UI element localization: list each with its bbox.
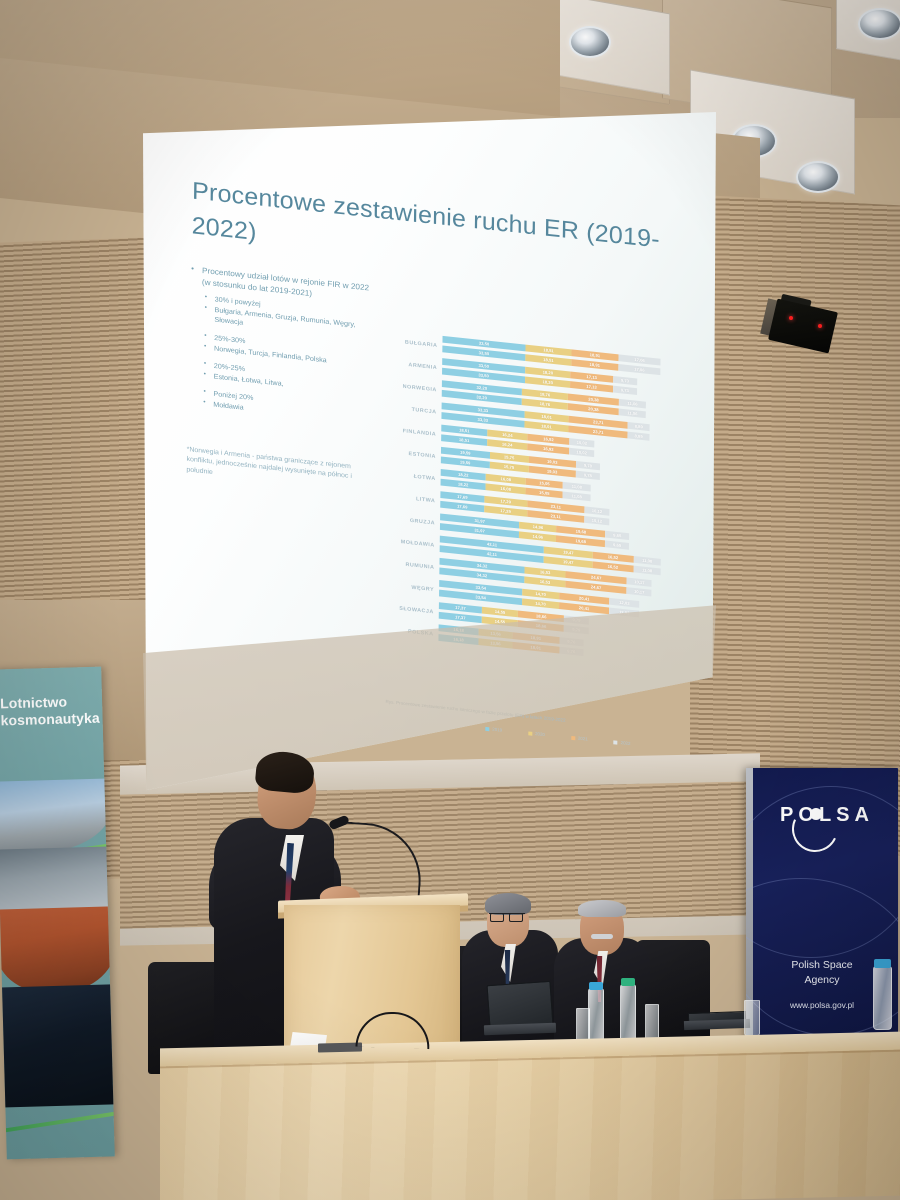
chart-value-label: 18,91 <box>590 352 601 358</box>
chart-value-label: 18,01 <box>541 414 552 420</box>
chart-value-label: 16,52 <box>608 564 619 570</box>
chart-value-label: 15,05 <box>539 490 550 496</box>
legend-swatch <box>614 740 618 744</box>
drinking-glass <box>576 1008 590 1042</box>
chart-value-label: 33,50 <box>479 340 490 346</box>
legend-swatch <box>528 731 532 735</box>
projection-screen: Procentowe zestawienie ruchu ER (2019-20… <box>143 112 716 797</box>
chart-value-label: 19,47 <box>563 559 574 565</box>
chart-value-label: 10,02 <box>576 449 587 455</box>
chart-value-label: 15,05 <box>539 480 550 486</box>
chart-segment-2022: 17,06 <box>618 364 660 376</box>
chart-value-label: 14,55 <box>495 619 506 625</box>
chart-value-label: 9,79 <box>572 627 580 633</box>
chart-value-label: 17,29 <box>500 508 511 514</box>
chart-segment-2020: 16,24 <box>487 439 527 451</box>
panelist-hair <box>578 900 626 917</box>
chart-value-label: 12,03 <box>619 600 630 606</box>
chart-category-label: SŁOWACJA <box>387 604 439 615</box>
slide-bullet-list: Procentowy udział lotów w rejonie FIR w … <box>187 264 379 428</box>
chart-value-label: 16,24 <box>502 441 513 447</box>
chart-segment-2022: 10,12 <box>584 506 609 516</box>
chart-value-label: 15,75 <box>504 454 515 460</box>
chart-category-label: GRUZJA <box>388 515 440 526</box>
chart-value-label: 33,33 <box>478 417 489 423</box>
chart-segment-2022: 10,17 <box>627 587 652 597</box>
chart-segment-2020: 16,08 <box>486 483 526 495</box>
banner-photo-airport <box>0 778 112 853</box>
chart-value-label: 32,20 <box>477 385 488 391</box>
chart-value-label: 17,29 <box>500 498 511 504</box>
chart-value-label: 10,02 <box>577 440 588 446</box>
legend-label: 2021 <box>578 736 588 742</box>
legend-label: 2022 <box>621 740 631 746</box>
chart-value-label: 14,55 <box>495 609 506 615</box>
chart-value-label: 19,59 <box>460 459 471 465</box>
banner-photo-cockpit <box>0 984 115 1107</box>
chart-segment-2022: 10,17 <box>627 577 652 587</box>
chart-segment-2020: 17,29 <box>484 505 527 517</box>
chart-value-label: 9,73 <box>621 378 629 384</box>
camera-led-indicator <box>789 316 793 320</box>
chart-value-label: 11,06 <box>627 401 637 407</box>
chart-value-label: 20,41 <box>579 595 590 601</box>
chart-value-label: 9,78 <box>584 472 592 478</box>
water-bottle <box>588 988 604 1044</box>
chart-value-label: 18,51 <box>459 437 470 443</box>
chart-value-label: 16,92 <box>543 436 554 442</box>
chart-segment-2022: 11,08 <box>563 491 591 501</box>
ceiling-downlight-icon <box>858 8 900 40</box>
chart-value-label: 17,13 <box>586 374 597 380</box>
chart-value-label: 23,71 <box>593 419 604 425</box>
chart-value-label: 18,91 <box>531 635 542 641</box>
chart-segment-2022: 10,02 <box>569 447 594 457</box>
chart-segment-2021: 16,92 <box>527 443 569 455</box>
chart-value-label: 23,11 <box>551 504 561 510</box>
bottle-cap <box>621 978 635 986</box>
chart-value-label: 9,73 <box>621 387 629 393</box>
chart-value-label: 16,08 <box>500 486 511 492</box>
chart-value-label: 19,47 <box>563 549 574 555</box>
conference-photo: Procentowe zestawienie ruchu ER (2019-20… <box>0 0 900 1200</box>
chart-value-label: 17,69 <box>457 494 468 500</box>
chart-value-label: 10,17 <box>634 589 645 595</box>
stacked-bar-chart: BUŁGARIA33,5018,5118,9117,0633,5018,5118… <box>386 329 691 722</box>
chart-value-label: 18,51 <box>459 427 470 433</box>
chart-category-label: ŁOTWA <box>389 471 441 482</box>
chart-value-label: 18,91 <box>590 362 601 368</box>
chart-value-label: 14,96 <box>533 524 544 530</box>
chart-value-label: 11,08 <box>572 484 582 490</box>
chart-value-label: 24,67 <box>591 584 602 590</box>
chart-value-label: 23,71 <box>593 429 604 435</box>
chart-value-label: 18,22 <box>458 481 469 487</box>
chart-segment-2022: 9,76 <box>559 646 583 656</box>
chart-legend-item: 2019 <box>485 726 502 733</box>
chart-segment-2022: 12,03 <box>609 607 639 617</box>
chart-segment-2022: 11,08 <box>633 565 661 575</box>
chart-legend: 2019202020212022 <box>485 726 630 746</box>
legend-label: 2020 <box>535 731 545 737</box>
chart-segment-2022: 11,06 <box>619 408 647 418</box>
chart-legend-item: 2020 <box>528 730 545 737</box>
chart-value-label: 19,59 <box>460 450 471 456</box>
chart-value-label: 11,08 <box>572 493 582 499</box>
chart-value-label: 13,56 <box>490 631 501 637</box>
chart-value-label: 16,53 <box>540 579 551 585</box>
chart-value-label: 10,17 <box>634 579 645 585</box>
chart-segment-2020: 16,53 <box>524 576 565 588</box>
chart-value-label: 11,08 <box>642 558 652 564</box>
chart-category-label: TURCJA <box>389 404 441 415</box>
chart-value-label: 34,32 <box>477 563 488 569</box>
chart-value-label: 9,78 <box>584 463 592 469</box>
chart-segment-2019: 16,18 <box>438 634 478 646</box>
chart-value-label: 16,53 <box>540 569 551 575</box>
camera-led-indicator <box>818 324 822 328</box>
chart-segment-2021: 17,13 <box>570 381 613 393</box>
chart-segment-2022: 9,73 <box>613 385 637 395</box>
chart-value-label: 17,13 <box>586 384 597 390</box>
chart-legend-item: 2021 <box>571 735 588 742</box>
chart-segment-2020: 13,56 <box>479 638 513 649</box>
chart-legend-item: 2022 <box>614 739 631 746</box>
chart-value-label: 18,01 <box>541 423 552 429</box>
chart-value-label: 17,37 <box>455 605 466 611</box>
chart-segment-2020: 15,75 <box>489 461 528 472</box>
chart-value-label: 17,69 <box>457 503 468 509</box>
drinking-glass <box>744 1000 760 1036</box>
chart-value-label: 20,41 <box>579 605 590 611</box>
chart-segment-2020: 14,55 <box>482 616 518 627</box>
legend-swatch <box>571 735 575 739</box>
chart-value-label: 16,24 <box>502 432 513 438</box>
chart-value-label: 23,11 <box>551 513 561 519</box>
chart-caption: Rys. Procentowe zestawienie ruchu lotnic… <box>386 699 566 723</box>
chart-value-label: 16,08 <box>501 476 512 482</box>
chart-value-label: 15,75 <box>504 464 515 470</box>
chart-value-label: 33,50 <box>479 350 490 356</box>
chart-category-label: ESTONIA <box>389 449 441 460</box>
slide-footnote: *Norwegia i Armenia - państwa graniczące… <box>186 445 364 494</box>
water-bottle <box>620 984 636 1044</box>
chart-value-label: 18,76 <box>540 391 551 397</box>
chart-segment-2022: 9,65 <box>605 540 629 550</box>
panel-desk-front <box>160 1050 900 1200</box>
chart-value-label: 18,51 <box>543 357 554 363</box>
chart-value-label: 8,89 <box>635 424 643 430</box>
chart-segment-2022: 8,89 <box>628 422 650 432</box>
chart-category-label: BUŁGARIA <box>390 338 442 349</box>
laptop-screen <box>487 981 554 1029</box>
chart-value-label: 17,06 <box>634 357 645 363</box>
chart-value-label: 33,33 <box>478 407 489 413</box>
chart-value-label: 34,32 <box>477 572 488 578</box>
chart-segment-2022: 10,12 <box>584 516 609 526</box>
chart-value-label: 9,76 <box>567 648 575 654</box>
chart-value-label: 33,54 <box>476 585 487 591</box>
chart-value-label: 18,20 <box>543 369 554 375</box>
chart-segment-2022: 9,73 <box>613 376 637 386</box>
chart-category-label: POLSKA <box>386 626 438 637</box>
chart-value-label: 42,11 <box>487 541 497 547</box>
chart-value-label: 14,70 <box>535 601 546 607</box>
banner-accent-stripe <box>0 1110 115 1133</box>
chart-segment-2019: 17,69 <box>440 500 484 512</box>
chart-value-label: 10,12 <box>592 508 603 514</box>
chart-segment-2022: 10,02 <box>569 438 594 448</box>
bottle-cap <box>874 959 891 968</box>
chart-segment-2022: 9,79 <box>564 625 588 635</box>
chart-value-label: 20,38 <box>588 406 599 412</box>
chart-value-label: 17,06 <box>634 366 645 372</box>
chart-value-label: 10,12 <box>592 518 603 524</box>
chart-value-label: 19,68 <box>575 538 586 544</box>
moustache-icon <box>591 934 613 939</box>
chart-value-label: 33,50 <box>478 363 489 369</box>
chart-value-label: 19,03 <box>547 468 558 474</box>
chart-segment-2022: 8,89 <box>628 431 650 441</box>
chart-value-label: 17,37 <box>455 614 466 620</box>
legend-swatch <box>485 726 489 730</box>
chart-category-label: RUMUNIA <box>387 560 439 571</box>
chart-segment-2022: 11,08 <box>633 555 661 565</box>
chart-value-label: 33,54 <box>475 594 486 600</box>
chart-value-label: 16,18 <box>453 636 464 642</box>
chart-category-label: NORWEGIA <box>390 382 442 393</box>
chart-category-label: LITWA <box>388 493 440 504</box>
chart-segment-2020: 14,70 <box>522 598 559 609</box>
chart-category-label: WĘGRY <box>387 582 439 593</box>
chart-category-label: MOŁDAWIA <box>388 537 440 548</box>
chart-value-label: 9,76 <box>567 639 575 645</box>
left-banner-title: Lotnictwo kosmonautyka <box>0 693 101 729</box>
chart-value-label: 19,68 <box>576 528 587 534</box>
chart-rows: BUŁGARIA33,5018,5118,9117,0633,5018,5118… <box>386 329 690 671</box>
chart-segment-2019: 17,37 <box>439 611 482 623</box>
chart-segment-2022: 12,03 <box>609 597 639 607</box>
chart-value-label: 33,50 <box>478 372 489 378</box>
chart-value-label: 11,06 <box>627 410 637 416</box>
chart-value-label: 31,97 <box>474 527 485 533</box>
chart-segment-2020: 14,96 <box>519 531 556 542</box>
chart-value-label: 14,96 <box>533 534 544 540</box>
chart-segment-2021: 15,05 <box>526 487 563 498</box>
chart-value-label: 9,65 <box>613 532 621 538</box>
banner-photo-mars-rover <box>0 906 115 995</box>
glasses-icon <box>509 913 523 922</box>
chart-value-label: 18,66 <box>536 623 547 629</box>
chart-value-label: 18,20 <box>542 379 553 385</box>
left-banner-title-line2: kosmonautyka <box>0 709 100 728</box>
chart-value-label: 9,65 <box>613 542 621 548</box>
glasses-icon <box>490 913 504 922</box>
chart-segment-2022: 9,79 <box>564 615 588 625</box>
desk-wood-grain <box>160 1050 900 1200</box>
panelist-hair <box>485 893 531 915</box>
chart-value-label: 16,52 <box>608 554 619 560</box>
chart-value-label: 12,03 <box>619 609 630 615</box>
chart-value-label: 9,79 <box>572 617 580 623</box>
chart-segment-2022: 9,78 <box>576 461 600 471</box>
legend-label: 2019 <box>492 727 502 733</box>
chart-value-label: 42,11 <box>487 551 497 557</box>
laptop-base <box>684 1019 750 1030</box>
chart-value-label: 31,97 <box>474 518 485 524</box>
chart-category-label: FINLANDIA <box>389 426 441 437</box>
chart-value-label: 20,38 <box>588 396 599 402</box>
chart-value-label: 11,08 <box>642 567 652 573</box>
chart-value-label: 16,92 <box>543 446 554 452</box>
chart-value-label: 18,91 <box>530 644 541 650</box>
chart-segment-2022: 11,08 <box>563 481 591 491</box>
ceiling-downlight-icon <box>569 26 611 58</box>
chart-value-label: 14,70 <box>535 591 546 597</box>
chart-segment-2020: 18,01 <box>524 420 569 432</box>
bottle-cap <box>589 982 603 990</box>
chart-value-label: 18,66 <box>536 613 547 619</box>
chart-value-label: 13,56 <box>490 640 501 646</box>
chart-segment-2021: 16,52 <box>592 561 633 573</box>
banner-lotnictwo-kosmonautyka: Lotnictwo kosmonautyka <box>0 667 115 1160</box>
chart-segment-2022: 9,76 <box>559 637 583 647</box>
ceiling-downlight-icon <box>796 161 840 193</box>
chart-value-label: 18,22 <box>458 472 469 478</box>
chart-value-label: 19,03 <box>547 459 558 465</box>
water-bottle <box>873 966 892 1030</box>
slide-content: Procentowe zestawienie ruchu ER (2019-20… <box>137 122 718 780</box>
chart-segment-2022: 11,06 <box>619 398 647 408</box>
chart-category-label: ARMENIA <box>390 360 442 371</box>
chart-value-label: 16,18 <box>453 627 464 633</box>
chart-value-label: 18,76 <box>540 401 551 407</box>
chart-value-label: 18,51 <box>543 347 554 353</box>
polsa-planet-dot-icon <box>810 808 822 820</box>
chart-value-label: 32,20 <box>476 394 487 400</box>
chart-value-label: 8,89 <box>634 433 642 439</box>
chart-segment-2022: 9,78 <box>576 470 600 480</box>
chart-segment-2022: 9,65 <box>605 530 629 540</box>
chart-value-label: 24,67 <box>591 575 602 581</box>
